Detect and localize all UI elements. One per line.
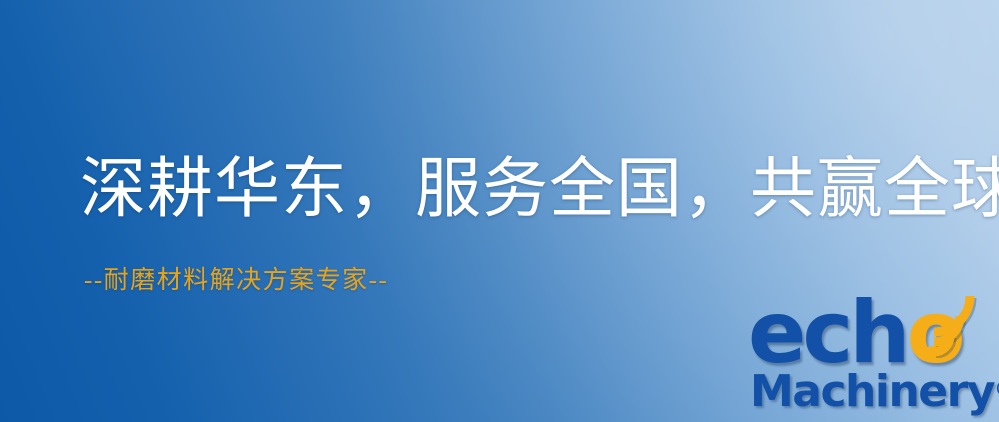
banner-headline: 深耕华东，服务全国，共赢全球: [80, 148, 999, 232]
banner-subtitle: --耐磨材料解决方案专家--: [84, 266, 388, 296]
registered-trademark-mark: ®: [994, 377, 999, 401]
logo-tagline-text: Machinery: [750, 366, 994, 417]
signal-waves-icon: [926, 292, 999, 358]
logo-tagline-group: Machinery®: [750, 366, 999, 415]
echo-machinery-logo: echo Machinery®: [748, 296, 999, 422]
promo-banner: 深耕华东，服务全国，共赢全球 --耐磨材料解决方案专家-- echo Machi…: [0, 0, 999, 422]
